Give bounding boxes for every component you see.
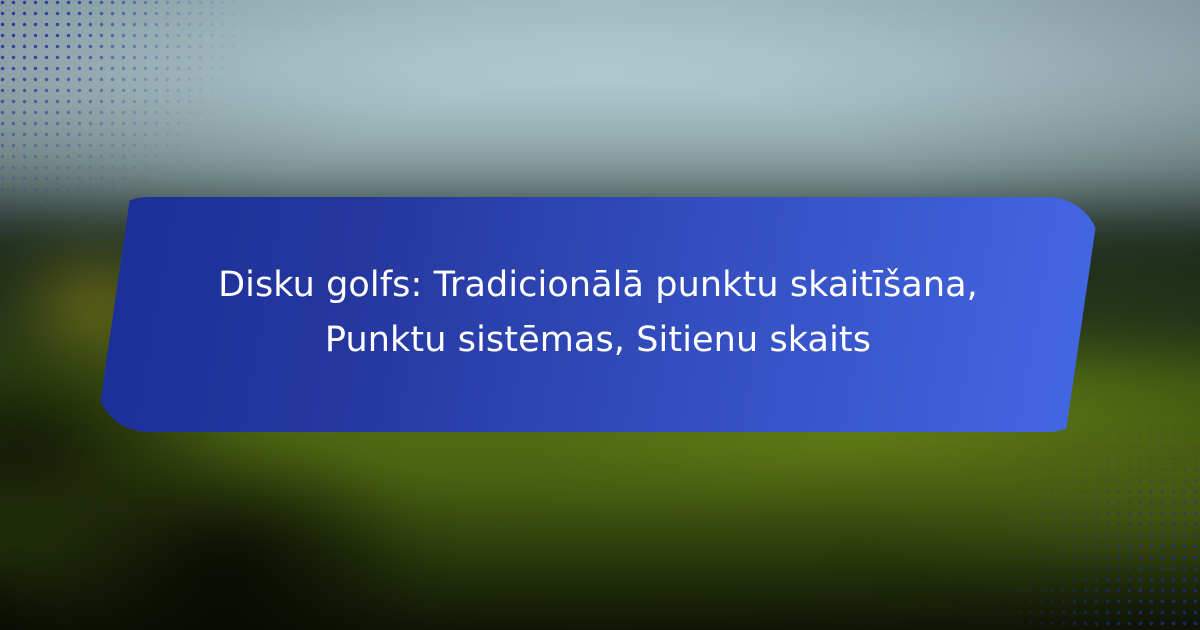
og-image-canvas: Disku golfs: Tradicionālā punktu skaitīš… xyxy=(0,0,1200,630)
title-line-2: Punktu sistēmas, Sitienu skaits xyxy=(168,313,1028,367)
title-line-1: Disku golfs: Tradicionālā punktu skaitīš… xyxy=(168,258,1028,312)
title-card: Disku golfs: Tradicionālā punktu skaitīš… xyxy=(96,197,1100,432)
page-title: Disku golfs: Tradicionālā punktu skaitīš… xyxy=(168,258,1028,371)
